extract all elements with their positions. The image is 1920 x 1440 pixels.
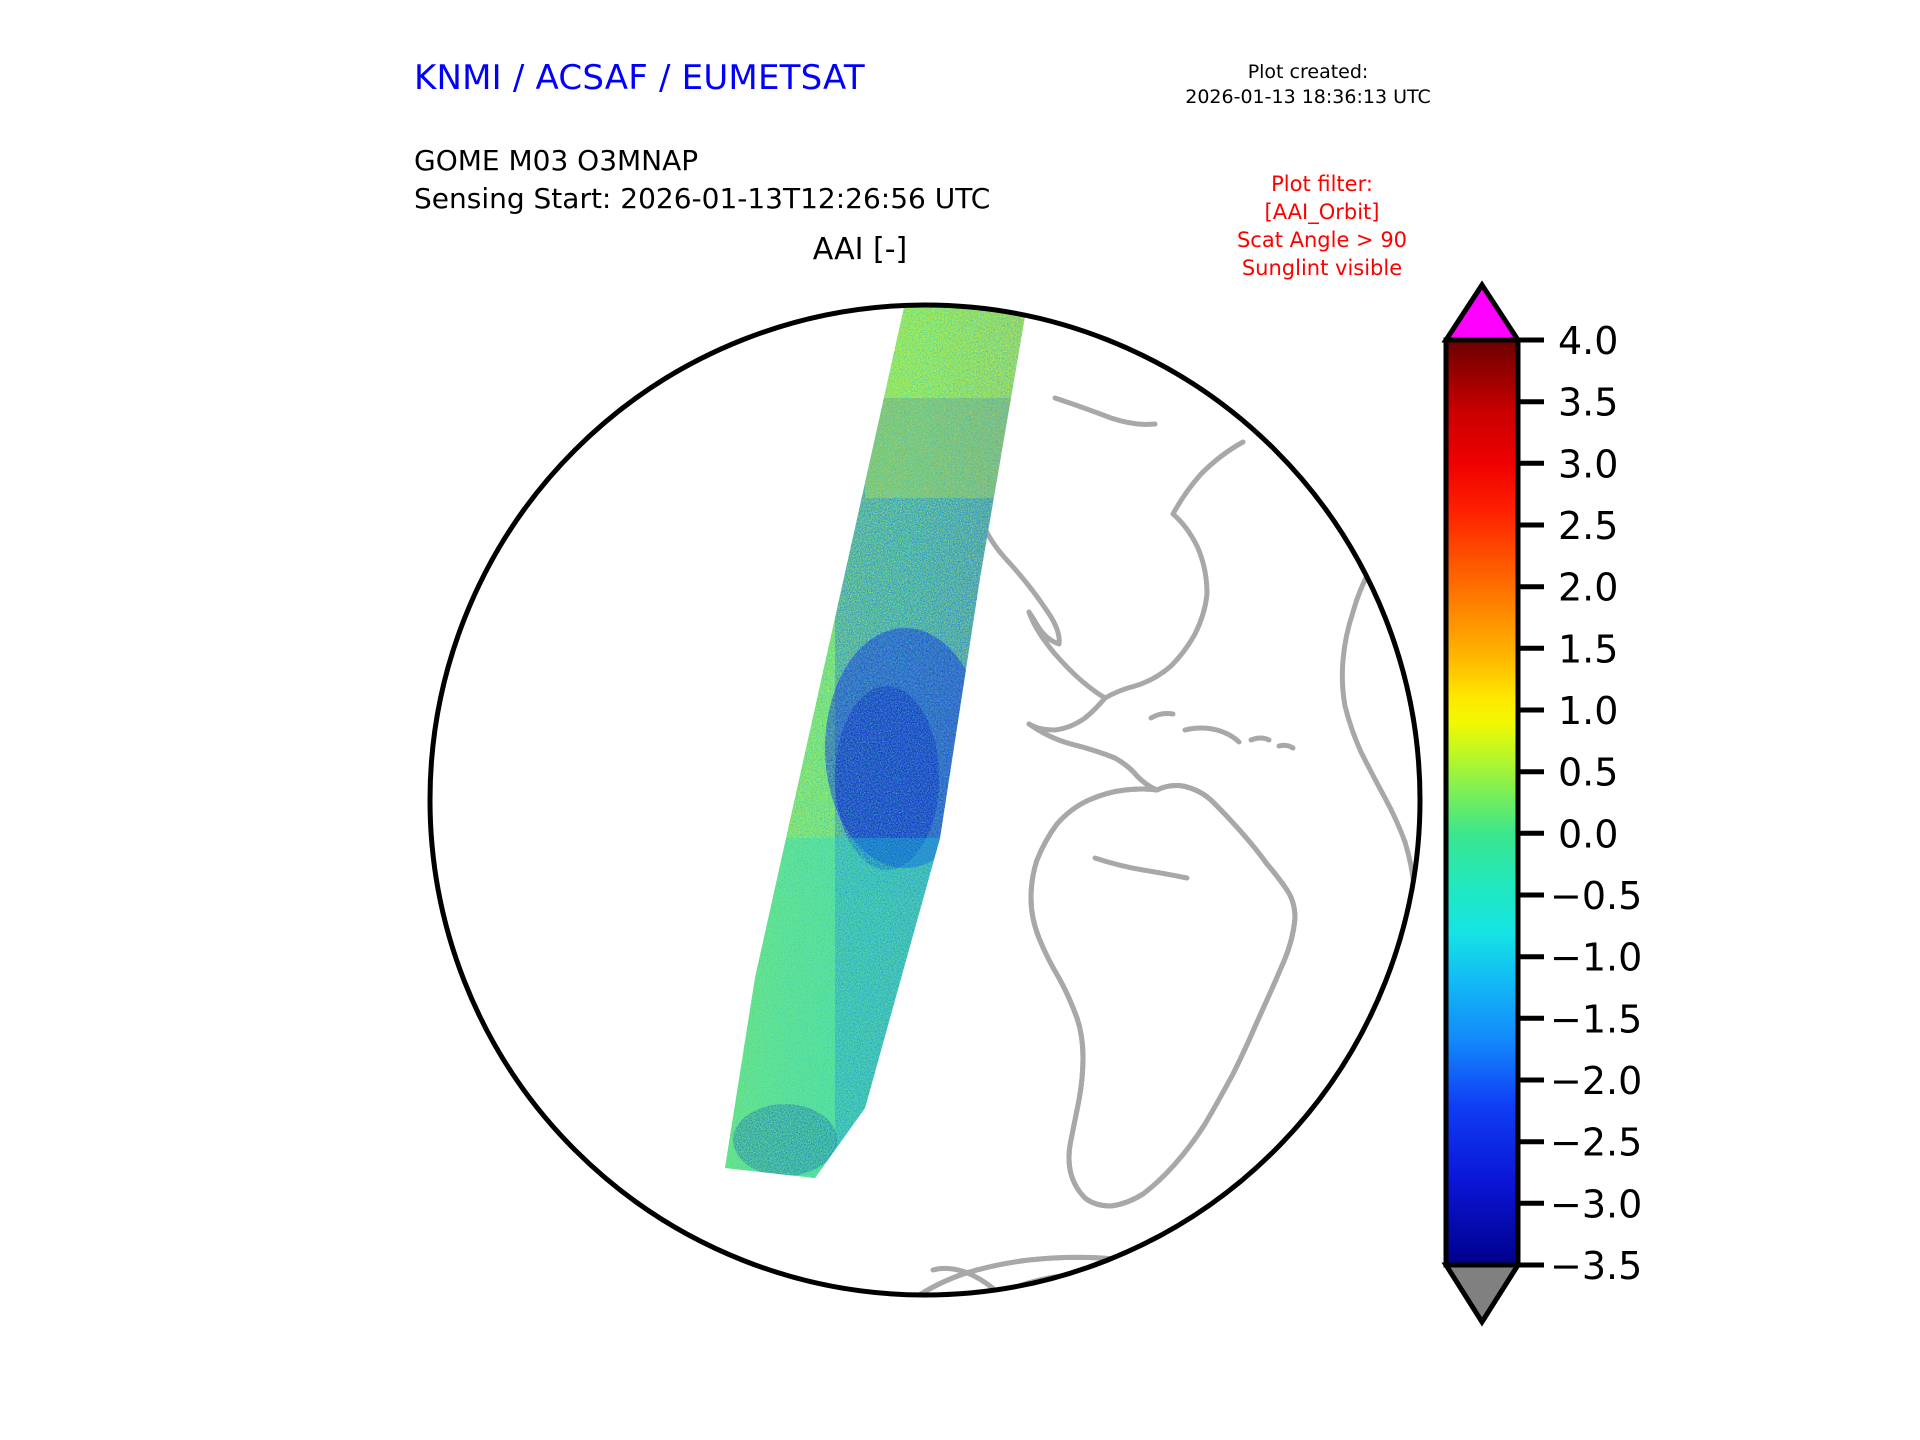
plot-created-block: Plot created: 2026-01-13 18:36:13 UTC [1160, 60, 1456, 110]
colorbar-tick-label: −1.5 [1550, 997, 1642, 1041]
variable-title: AAI [-] [540, 232, 1180, 267]
plot-filter-line-3: Scat Angle > 90 [1186, 226, 1458, 254]
colorbar-tick-label: 2.5 [1558, 504, 1618, 548]
colorbar-gradient [1446, 340, 1518, 1265]
globe-map [395, 278, 1435, 1318]
colorbar-tick-label: 3.0 [1558, 442, 1618, 486]
colorbar-tick-label: −3.5 [1550, 1244, 1642, 1288]
colorbar-tick-label: 2.0 [1558, 566, 1618, 610]
colorbar-tick-label: 0.5 [1558, 751, 1618, 795]
colorbar-tick-label: 0.0 [1558, 812, 1618, 856]
plot-created-value: 2026-01-13 18:36:13 UTC [1160, 85, 1456, 110]
colorbar-tick-labels: 4.0 3.5 3.0 2.5 2.0 1.5 1.0 0.5 0.0 −0.5… [1550, 319, 1642, 1288]
colorbar-over-arrow [1446, 285, 1518, 340]
sensing-start: Sensing Start: 2026-01-13T12:26:56 UTC [414, 180, 990, 218]
colorbar-tick-label: 1.5 [1558, 627, 1618, 671]
colorbar-tick-label: 4.0 [1558, 319, 1618, 363]
dataset-name: GOME M03 O3MNAP [414, 142, 990, 180]
colorbar-tick-label: 3.5 [1558, 381, 1618, 425]
colorbar-tick-label: 1.0 [1558, 689, 1618, 733]
colorbar: 4.0 3.5 3.0 2.5 2.0 1.5 1.0 0.5 0.0 −0.5… [1440, 280, 1770, 1340]
plot-filter-line-2: [AAI_Orbit] [1186, 198, 1458, 226]
colorbar-tick-label: −0.5 [1550, 874, 1642, 918]
plot-filter-block: Plot filter: [AAI_Orbit] Scat Angle > 90… [1186, 170, 1458, 282]
colorbar-tick-label: −2.5 [1550, 1121, 1642, 1165]
colorbar-tick-label: −2.0 [1550, 1059, 1642, 1103]
colorbar-ticks [1518, 340, 1544, 1265]
plot-canvas: KNMI / ACSAF / EUMETSAT Plot created: 20… [0, 0, 1920, 1440]
plot-filter-line-1: Plot filter: [1186, 170, 1458, 198]
colorbar-tick-label: −3.0 [1550, 1182, 1642, 1226]
organisation-title: KNMI / ACSAF / EUMETSAT [414, 58, 865, 98]
colorbar-under-arrow [1446, 1265, 1518, 1322]
dataset-info-block: GOME M03 O3MNAP Sensing Start: 2026-01-1… [414, 142, 990, 218]
plot-created-label: Plot created: [1160, 60, 1456, 85]
colorbar-tick-label: −1.0 [1550, 936, 1642, 980]
